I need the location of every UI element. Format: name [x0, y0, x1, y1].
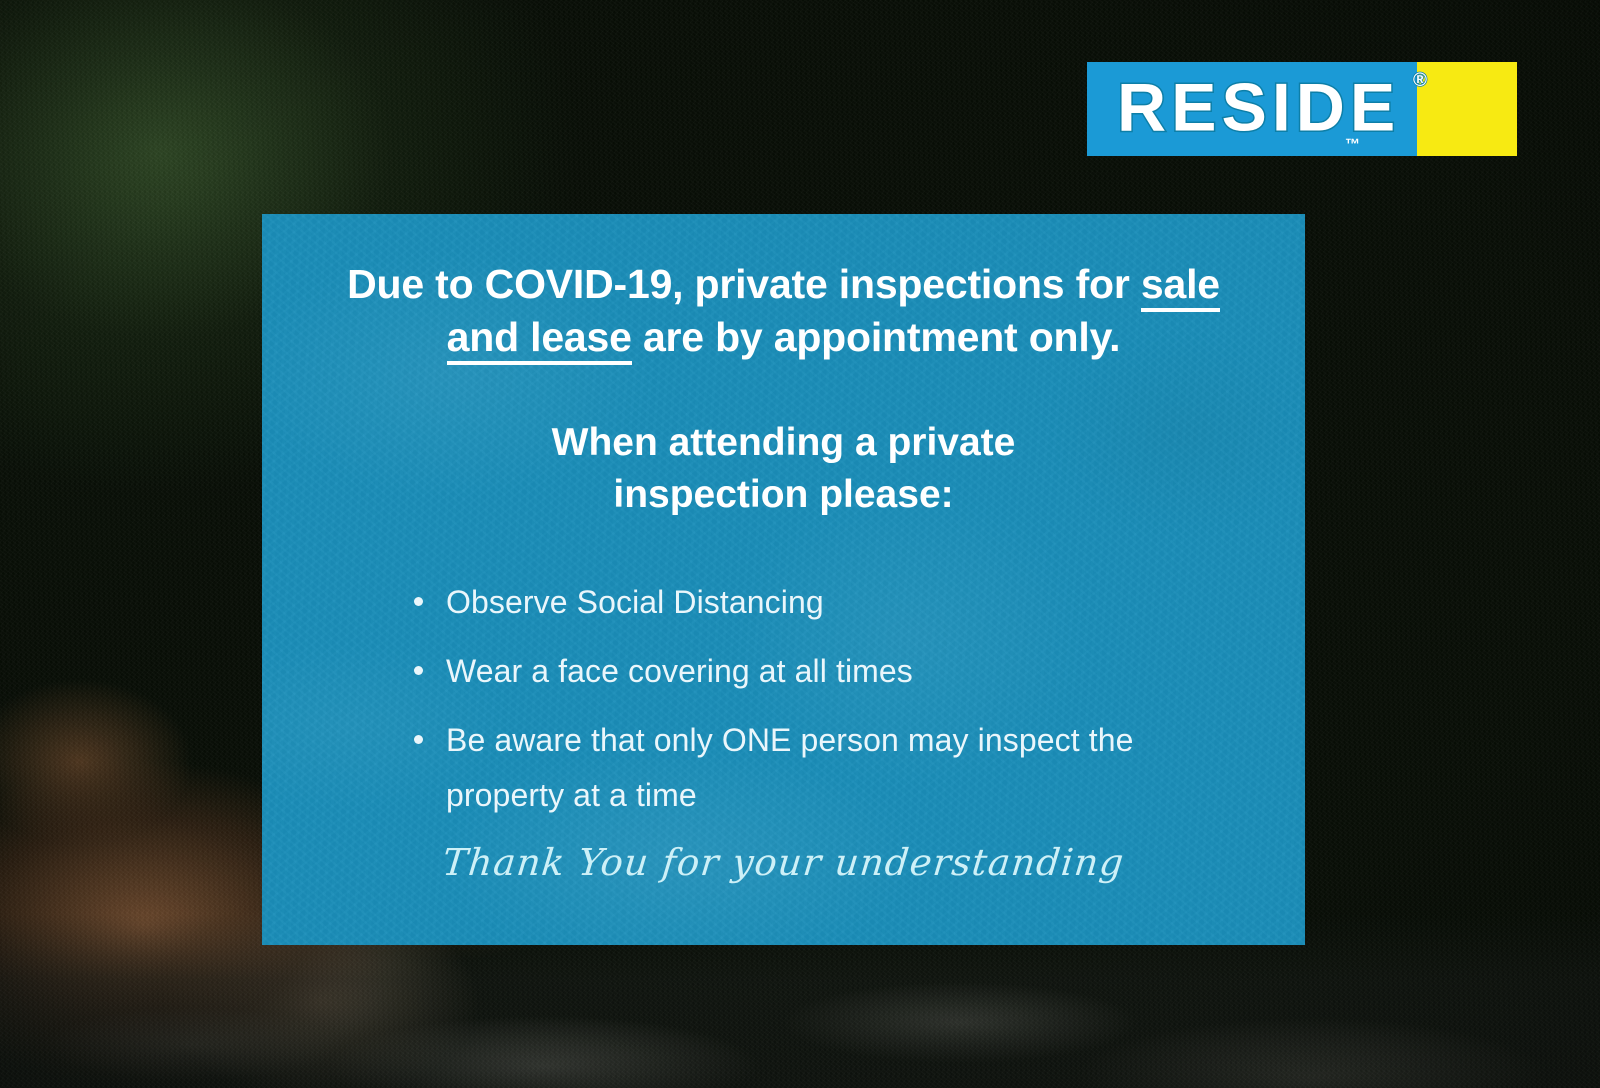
list-item: Be aware that only ONE person may inspec…: [414, 713, 1257, 823]
list-item: Wear a face covering at all times: [414, 644, 1257, 699]
instructions-list: Observe Social Distancing Wear a face co…: [310, 575, 1257, 823]
covid-inspection-notice-poster: RESIDE ® ™ Due to COVID-19, private insp…: [0, 0, 1600, 1088]
reside-logo: RESIDE ® ™: [1087, 62, 1517, 156]
registered-trademark-icon: ®: [1413, 70, 1427, 92]
list-item: Observe Social Distancing: [414, 575, 1257, 630]
subheadline: When attending a private inspection plea…: [310, 417, 1257, 522]
trademark-icon: ™: [1345, 136, 1361, 153]
logo-wordmark: RESIDE: [1117, 74, 1400, 142]
headline-part-1: Due to COVID-19, private inspections for: [347, 261, 1130, 307]
notice-panel: Due to COVID-19, private inspections for…: [262, 214, 1305, 945]
signoff-message: Thank You for your understanding: [308, 841, 1260, 884]
headline: Due to COVID-19, private inspections for…: [310, 258, 1257, 365]
headline-part-2: are by appointment only.: [632, 314, 1121, 360]
notice-panel-content: Due to COVID-19, private inspections for…: [262, 214, 1305, 945]
